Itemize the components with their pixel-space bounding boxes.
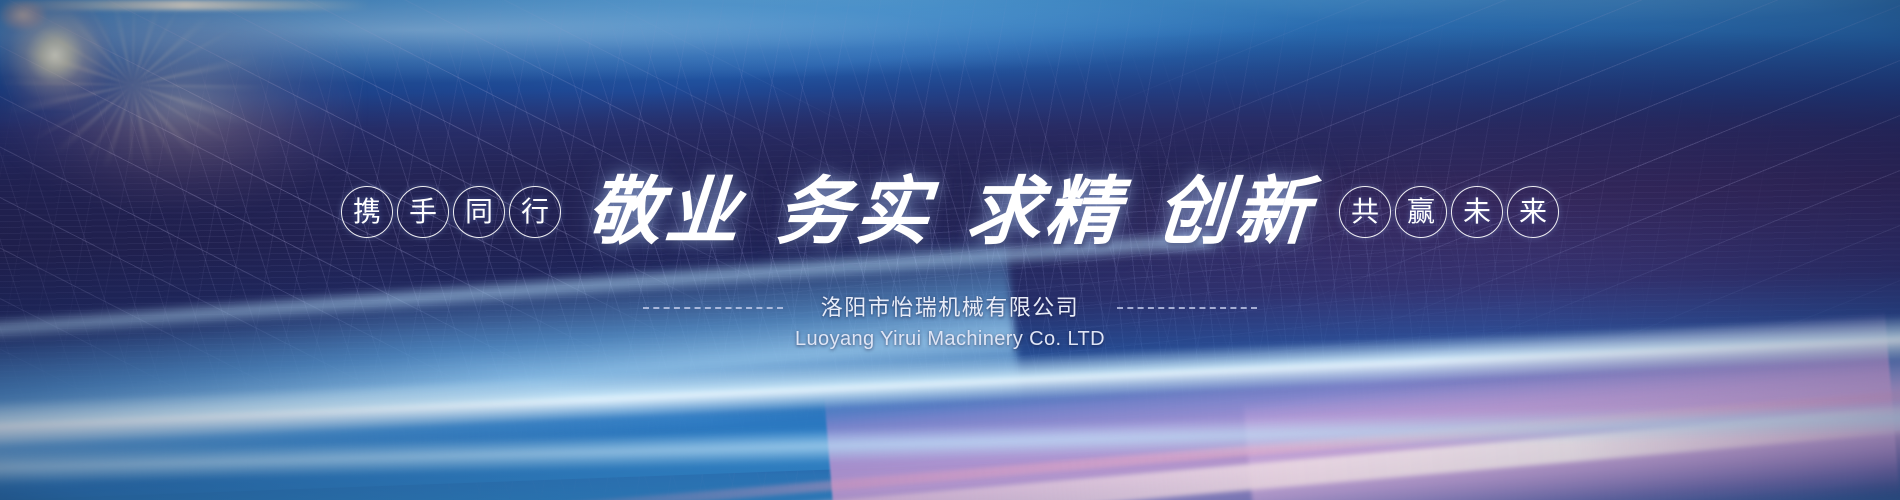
circled-char-xing: 行 xyxy=(509,186,561,238)
slogan-word-wushi: 务实 xyxy=(774,175,935,249)
circled-char-wei: 未 xyxy=(1451,186,1503,238)
slogan-phrase: 敬业 务实 求精 创新 xyxy=(561,175,1339,249)
dashed-rule-left xyxy=(643,307,783,310)
circled-char-tong: 同 xyxy=(453,186,505,238)
company-name-en: Luoyang Yirui Machinery Co. LTD xyxy=(795,327,1105,351)
promo-banner: 携 手 同 行 敬业 务实 求精 创新 共 赢 未 来 洛阳市怡瑞机械有限公司 xyxy=(0,0,1900,500)
left-circled-phrase: 携 手 同 行 xyxy=(341,186,561,238)
circled-char-shou: 手 xyxy=(397,186,449,238)
circled-char-ying: 赢 xyxy=(1395,186,1447,238)
circled-char-gong: 共 xyxy=(1339,186,1391,238)
dashed-rule-right xyxy=(1117,307,1257,310)
slogan-word-chuangxin: 创新 xyxy=(1154,175,1315,249)
slogan-word-jingye: 敬业 xyxy=(584,175,745,249)
right-circled-phrase: 共 赢 未 来 xyxy=(1339,186,1559,238)
company-identity-block: 洛阳市怡瑞机械有限公司 Luoyang Yirui Machinery Co. … xyxy=(643,295,1258,350)
banner-content: 携 手 同 行 敬业 务实 求精 创新 共 赢 未 来 洛阳市怡瑞机械有限公司 xyxy=(0,0,1900,500)
circled-char-xie: 携 xyxy=(341,186,393,238)
company-name-row: 洛阳市怡瑞机械有限公司 xyxy=(643,295,1258,321)
company-name-cn: 洛阳市怡瑞机械有限公司 xyxy=(821,295,1080,321)
circled-char-lai: 来 xyxy=(1507,186,1559,238)
headline: 携 手 同 行 敬业 务实 求精 创新 共 赢 未 来 xyxy=(341,175,1559,249)
slogan-word-qiujing: 求精 xyxy=(964,175,1125,249)
